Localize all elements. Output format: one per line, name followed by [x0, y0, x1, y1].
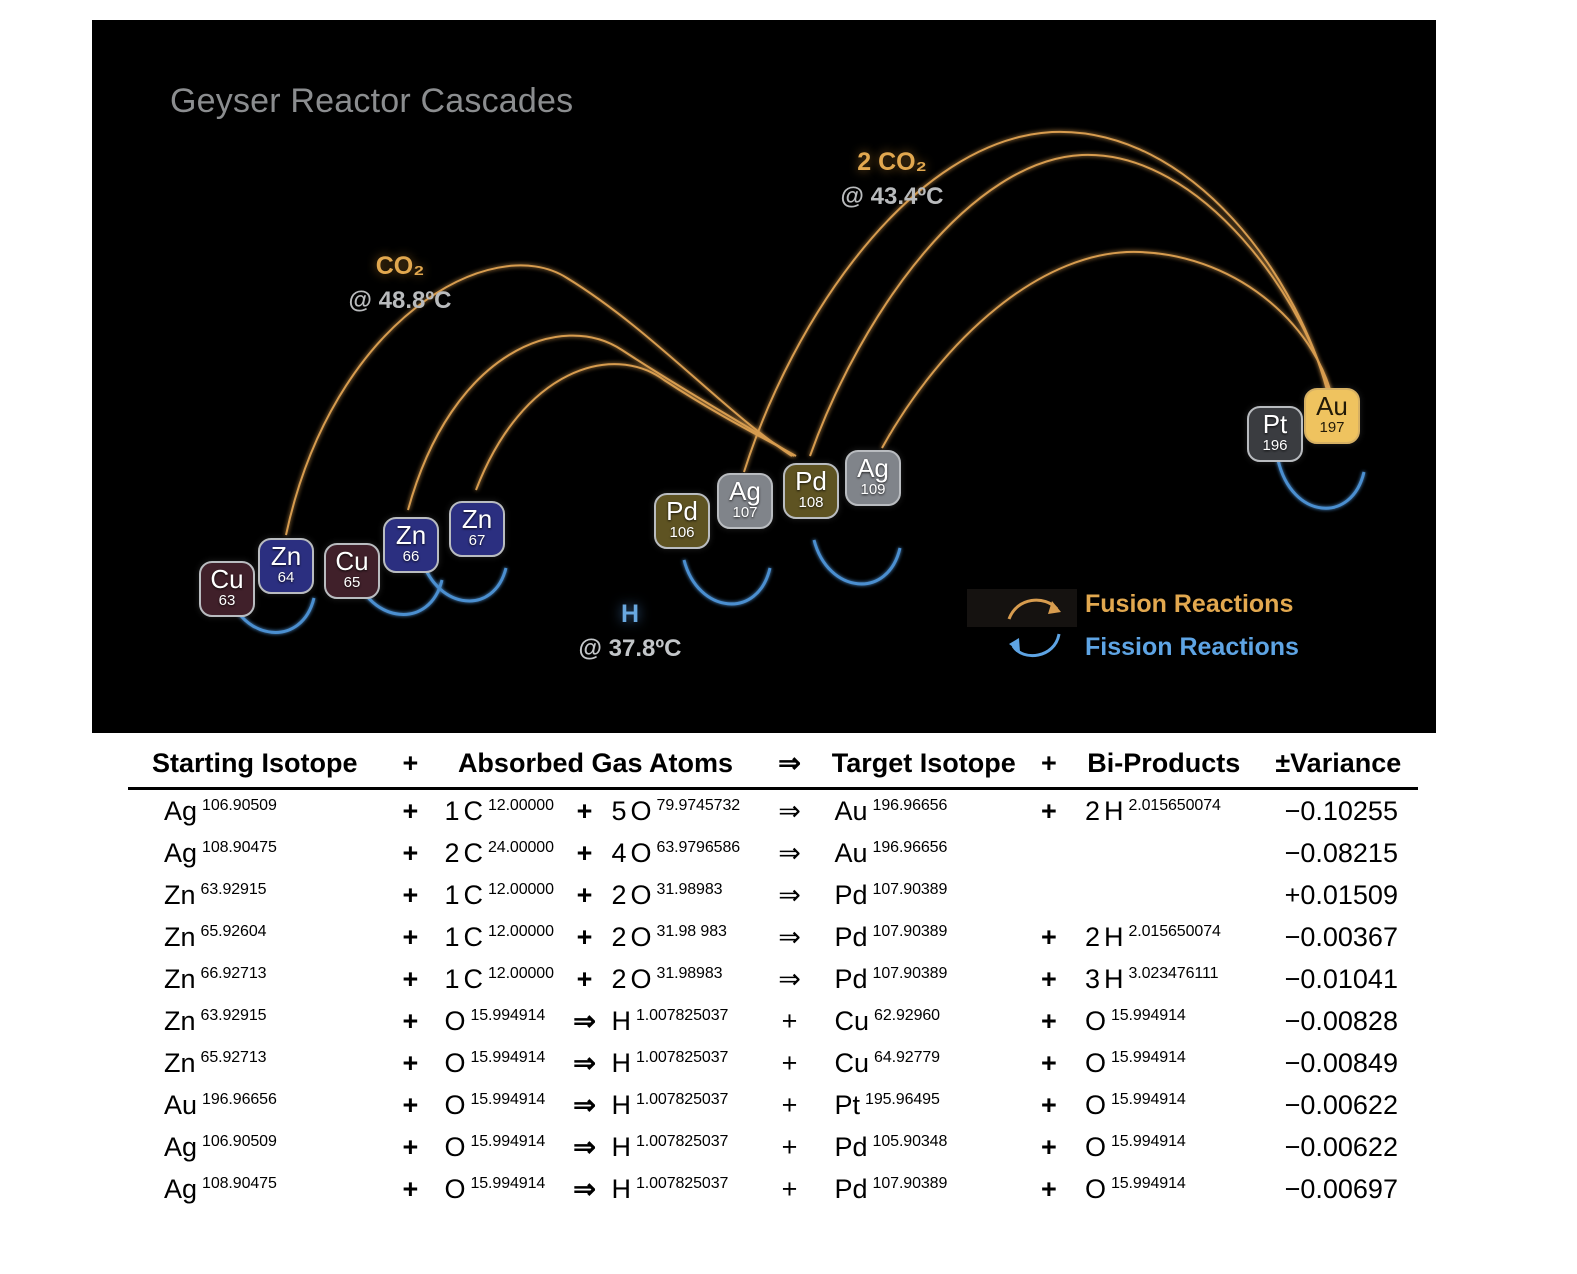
cell-reaction-arrow: ⇒ — [761, 916, 819, 958]
cell-starting-isotope: Zn66.92713 — [128, 958, 390, 1000]
target-isotope-mass: 107.90389 — [873, 1175, 948, 1192]
isotope-mass-number: 196 — [1262, 438, 1287, 453]
arc-up-arrow-icon — [1001, 585, 1071, 627]
cell-bi-product-1: O15.994914 — [1069, 1000, 1243, 1042]
isotope-chip-zn-67[interactable]: Zn 67 — [449, 501, 505, 557]
isotope-mass-number: 67 — [469, 533, 486, 548]
cell-bi-product-2 — [1243, 874, 1259, 916]
cell-operator-3 — [1029, 874, 1069, 916]
gas-name: CO₂ — [320, 252, 480, 281]
isotope-symbol: Pd — [666, 500, 698, 522]
starting-isotope-mass: 66.92713 — [201, 965, 267, 982]
starting-isotope-symbol: Zn — [164, 880, 196, 910]
gas-atom-1-symbol: O — [444, 1174, 465, 1204]
table-row[interactable]: Zn66.92713+1C12.00000+2O31.98983⇒Pd107.9… — [128, 958, 1418, 1000]
cell-gas-atom-1: 1C12.00000 — [430, 916, 571, 958]
cell-variance: +0.01509 — [1259, 874, 1418, 916]
isotope-chip-ag-109[interactable]: Ag 109 — [845, 450, 901, 506]
starting-isotope-mass: 106.90509 — [202, 1133, 277, 1150]
gas-atom-1-symbol: C — [463, 796, 483, 826]
gas-atom-2-coefficient: 5 — [611, 796, 626, 826]
cell-bi-product-2 — [1243, 1126, 1259, 1168]
gas-atom-1-symbol: C — [463, 922, 483, 952]
target-isotope-mass: 105.90348 — [873, 1133, 948, 1150]
cell-operator-1: + — [390, 832, 430, 874]
gas-atom-1-mass: 15.994914 — [470, 1091, 545, 1108]
cell-bi-product-1: O15.994914 — [1069, 1126, 1243, 1168]
target-isotope-symbol: Pd — [835, 964, 868, 994]
table-row[interactable]: Zn63.92915+O15.994914⇒H1.007825037+Cu62.… — [128, 1000, 1418, 1042]
isotope-chip-zn-64[interactable]: Zn 64 — [258, 538, 314, 594]
cell-operator-2: ⇒ — [572, 1042, 598, 1084]
gas-atom-1-mass: 12.00000 — [488, 797, 554, 814]
gas-atom-1-mass: 15.994914 — [470, 1175, 545, 1192]
cell-target-isotope: Pd107.90389 — [819, 916, 1029, 958]
target-isotope-mass: 107.90389 — [873, 965, 948, 982]
starting-isotope-symbol: Au — [164, 1090, 197, 1120]
legend-item-fusion[interactable]: Fusion Reactions — [967, 585, 1297, 627]
target-isotope-symbol: Pt — [835, 1090, 861, 1120]
bi-product-1-symbol: H — [1104, 922, 1124, 952]
isotope-mass-number: 65 — [344, 575, 361, 590]
gas-atom-2-symbol: O — [631, 880, 652, 910]
isotope-symbol: Pd — [795, 470, 827, 492]
target-isotope-symbol: Pd — [835, 1132, 868, 1162]
cell-variance: −0.10255 — [1259, 789, 1418, 833]
starting-isotope-symbol: Zn — [164, 922, 196, 952]
target-isotope-symbol: Cu — [835, 1048, 870, 1078]
gas-atom-2-symbol: O — [631, 922, 652, 952]
gas-atom-1-symbol: O — [444, 1132, 465, 1162]
cell-bi-product-1 — [1069, 874, 1243, 916]
cell-operator-1: + — [390, 1042, 430, 1084]
table-row[interactable]: Au196.96656+O15.994914⇒H1.007825037+Pt19… — [128, 1084, 1418, 1126]
gas-atom-2-mass: 1.007825037 — [636, 1133, 728, 1150]
isotope-symbol: Zn — [462, 508, 492, 530]
cell-operator-3: + — [1029, 916, 1069, 958]
cell-gas-atom-1: O15.994914 — [430, 1000, 571, 1042]
cell-variance: −0.00622 — [1259, 1084, 1418, 1126]
cell-reaction-arrow: ⇒ — [761, 958, 819, 1000]
target-isotope-mass: 195.96495 — [865, 1091, 940, 1108]
bi-product-1-mass: 2.015650074 — [1128, 797, 1220, 814]
cell-target-isotope: Au196.96656 — [819, 789, 1029, 833]
col-header-implies: ⇒ — [761, 744, 819, 789]
gas-atom-1-symbol: O — [444, 1090, 465, 1120]
cell-operator-1: + — [390, 874, 430, 916]
cell-starting-isotope: Zn63.92915 — [128, 1000, 390, 1042]
starting-isotope-symbol: Ag — [164, 1174, 197, 1204]
gas-atom-2-mass: 31.98983 — [657, 881, 723, 898]
cell-starting-isotope: Au196.96656 — [128, 1084, 390, 1126]
bi-product-1-symbol: O — [1085, 1048, 1106, 1078]
cell-gas-atom-2: H1.007825037 — [597, 1000, 760, 1042]
cell-operator-3: + — [1029, 789, 1069, 833]
fission-arc-ag107-to-pd106 — [684, 560, 770, 604]
cell-gas-atom-2: 5O79.9745732 — [597, 789, 760, 833]
gas-label-co2-1: CO₂ @ 48.8ºC — [320, 252, 480, 315]
cell-reaction-arrow: + — [761, 1084, 819, 1126]
starting-isotope-mass: 63.92915 — [201, 881, 267, 898]
target-isotope-mass: 196.96656 — [873, 797, 948, 814]
cell-operator-2: + — [572, 916, 598, 958]
table-row[interactable]: Ag106.90509+O15.994914⇒H1.007825037+Pd10… — [128, 1126, 1418, 1168]
starting-isotope-mass: 63.92915 — [201, 1007, 267, 1024]
cell-operator-1: + — [390, 1084, 430, 1126]
cell-gas-atom-2: H1.007825037 — [597, 1042, 760, 1084]
reaction-table: Starting Isotope + Absorbed Gas Atoms ⇒ … — [128, 744, 1418, 1210]
cell-operator-3: + — [1029, 958, 1069, 1000]
target-isotope-mass: 64.92779 — [874, 1049, 940, 1066]
gas-atom-2-coefficient: 2 — [611, 922, 626, 952]
cell-target-isotope: Pd105.90348 — [819, 1126, 1029, 1168]
cell-operator-3: + — [1029, 1042, 1069, 1084]
cell-operator-1: + — [390, 958, 430, 1000]
gas-atom-1-mass: 15.994914 — [470, 1007, 545, 1024]
table-row[interactable]: Ag106.90509+1C12.00000+5O79.9745732⇒Au19… — [128, 789, 1418, 833]
col-header-bi-products: Bi-Products — [1069, 744, 1259, 789]
col-header-target-isotope: Target Isotope — [819, 744, 1029, 789]
cell-starting-isotope: Ag108.90475 — [128, 832, 390, 874]
col-header-variance: ±Variance — [1259, 744, 1418, 789]
cell-gas-atom-1: O15.994914 — [430, 1084, 571, 1126]
legend-label: Fusion Reactions — [1085, 590, 1293, 619]
target-isotope-mass: 107.90389 — [873, 881, 948, 898]
isotope-symbol: Cu — [335, 550, 368, 572]
gas-atom-2-symbol: O — [631, 838, 652, 868]
gas-atom-2-mass: 63.9796586 — [657, 839, 741, 856]
table-row[interactable]: Ag108.90475+O15.994914⇒H1.007825037+Pd10… — [128, 1168, 1418, 1210]
cell-target-isotope: Cu64.92779 — [819, 1042, 1029, 1084]
gas-atom-1-mass: 12.00000 — [488, 881, 554, 898]
gas-atom-2-symbol: H — [611, 1006, 631, 1036]
bi-product-1-mass: 15.994914 — [1111, 1133, 1186, 1150]
cell-gas-atom-1: O15.994914 — [430, 1168, 571, 1210]
cell-operator-2: ⇒ — [572, 1168, 598, 1210]
legend-item-fission[interactable]: Fission Reactions — [967, 628, 1297, 670]
isotope-chip-pd-108[interactable]: Pd 108 — [783, 463, 839, 519]
isotope-symbol: Zn — [271, 545, 301, 567]
cell-starting-isotope: Zn63.92915 — [128, 874, 390, 916]
isotope-chip-pt-196[interactable]: Pt 196 — [1247, 406, 1303, 462]
bi-product-1-symbol: O — [1085, 1132, 1106, 1162]
bi-product-1-symbol: O — [1085, 1090, 1106, 1120]
bi-product-1-coefficient: 2 — [1085, 922, 1100, 952]
cell-operator-2: + — [572, 958, 598, 1000]
cell-target-isotope: Cu62.92960 — [819, 1000, 1029, 1042]
cell-reaction-arrow: ⇒ — [761, 789, 819, 833]
cell-operator-3: + — [1029, 1084, 1069, 1126]
isotope-symbol: Cu — [210, 568, 243, 590]
gas-atom-1-mass: 12.00000 — [488, 965, 554, 982]
gas-temperature: @ 48.8ºC — [320, 287, 480, 315]
cell-bi-product-1: 3H3.023476111 — [1069, 958, 1243, 1000]
table-header-row: Starting Isotope + Absorbed Gas Atoms ⇒ … — [128, 744, 1418, 789]
cell-starting-isotope: Ag106.90509 — [128, 1126, 390, 1168]
isotope-chip-cu-63[interactable]: Cu 63 — [199, 561, 255, 617]
cell-gas-atom-1: 2C24.00000 — [430, 832, 571, 874]
cell-bi-product-1: O15.994914 — [1069, 1168, 1243, 1210]
starting-isotope-symbol: Ag — [164, 796, 197, 826]
gas-atom-1-symbol: O — [444, 1006, 465, 1036]
cell-gas-atom-2: 2O31.98983 — [597, 874, 760, 916]
bi-product-1-coefficient: 3 — [1085, 964, 1100, 994]
cell-operator-3: + — [1029, 1126, 1069, 1168]
cell-reaction-arrow: + — [761, 1042, 819, 1084]
gas-atom-2-coefficient: 2 — [611, 880, 626, 910]
target-isotope-symbol: Cu — [835, 1006, 870, 1036]
cell-bi-product-2 — [1243, 1168, 1259, 1210]
gas-atom-2-mass: 79.9745732 — [657, 797, 741, 814]
target-isotope-symbol: Pd — [835, 1174, 868, 1204]
cell-operator-2: + — [572, 832, 598, 874]
target-isotope-symbol: Pd — [835, 880, 868, 910]
page-root: Geyser Reactor Cascades CO₂ @ 48.8ºC 2 C… — [0, 0, 1577, 1274]
cell-variance: −0.01041 — [1259, 958, 1418, 1000]
gas-atom-1-coefficient: 1 — [444, 922, 459, 952]
bi-product-1-symbol: O — [1085, 1006, 1106, 1036]
cell-operator-3 — [1029, 832, 1069, 874]
cell-bi-product-1 — [1069, 832, 1243, 874]
gas-label-co2-2: 2 CO₂ @ 43.4ºC — [802, 148, 982, 211]
bi-product-1-symbol: H — [1104, 964, 1124, 994]
arc-down-arrow-icon — [1001, 628, 1071, 670]
gas-name: H — [520, 600, 740, 629]
gas-name: 2 CO₂ — [802, 148, 982, 177]
gas-atom-1-coefficient: 2 — [444, 838, 459, 868]
table-row[interactable]: Ag108.90475+2C24.00000+4O63.9796586⇒Au19… — [128, 832, 1418, 874]
cell-variance: −0.08215 — [1259, 832, 1418, 874]
cell-gas-atom-2: 2O31.98 983 — [597, 916, 760, 958]
gas-atom-2-mass: 31.98 983 — [657, 923, 727, 940]
col-header-plus-1: + — [390, 744, 430, 789]
cell-bi-product-1: O15.994914 — [1069, 1042, 1243, 1084]
col-header-absorbed-gas-atoms: Absorbed Gas Atoms — [430, 744, 760, 789]
target-isotope-mass: 196.96656 — [873, 839, 948, 856]
cell-variance: −0.00828 — [1259, 1000, 1418, 1042]
gas-atom-2-symbol: O — [631, 964, 652, 994]
isotope-chip-cu-65[interactable]: Cu 65 — [324, 543, 380, 599]
cell-operator-2: + — [572, 789, 598, 833]
starting-isotope-symbol: Ag — [164, 838, 197, 868]
cell-bi-product-1: O15.994914 — [1069, 1084, 1243, 1126]
bi-product-1-coefficient: 2 — [1085, 796, 1100, 826]
target-isotope-symbol: Pd — [835, 922, 868, 952]
isotope-mass-number: 107 — [732, 505, 757, 520]
starting-isotope-mass: 65.92604 — [201, 923, 267, 940]
gas-temperature: @ 37.8ºC — [520, 635, 740, 663]
cell-operator-1: + — [390, 1000, 430, 1042]
cell-reaction-arrow: ⇒ — [761, 874, 819, 916]
cell-operator-2: ⇒ — [572, 1000, 598, 1042]
starting-isotope-symbol: Zn — [164, 1048, 196, 1078]
starting-isotope-mass: 106.90509 — [202, 797, 277, 814]
gas-atom-1-coefficient: 1 — [444, 880, 459, 910]
isotope-mass-number: 108 — [798, 495, 823, 510]
isotope-mass-number: 106 — [669, 525, 694, 540]
isotope-chip-pd-106[interactable]: Pd 106 — [654, 493, 710, 549]
isotope-mass-number: 197 — [1319, 420, 1344, 435]
gas-atom-1-mass: 15.994914 — [470, 1133, 545, 1150]
cell-gas-atom-2: H1.007825037 — [597, 1084, 760, 1126]
isotope-mass-number: 64 — [278, 570, 295, 585]
gas-atom-2-symbol: O — [631, 796, 652, 826]
starting-isotope-symbol: Zn — [164, 964, 196, 994]
gas-atom-1-symbol: O — [444, 1048, 465, 1078]
target-isotope-symbol: Au — [835, 796, 868, 826]
isotope-mass-number: 109 — [860, 482, 885, 497]
table-row[interactable]: Zn65.92604+1C12.00000+2O31.98 983⇒Pd107.… — [128, 916, 1418, 958]
bi-product-1-mass: 3.023476111 — [1128, 965, 1218, 982]
gas-atom-2-symbol: H — [611, 1132, 631, 1162]
isotope-mass-number: 66 — [403, 549, 420, 564]
target-isotope-mass: 107.90389 — [873, 923, 948, 940]
cascade-diagram: Geyser Reactor Cascades CO₂ @ 48.8ºC 2 C… — [92, 20, 1436, 733]
cell-operator-2: ⇒ — [572, 1084, 598, 1126]
fission-arc-ag109-to-pd108 — [814, 540, 900, 584]
cell-target-isotope: Pt195.96495 — [819, 1084, 1029, 1126]
bi-product-1-mass: 2.015650074 — [1128, 923, 1220, 940]
gas-atom-1-mass: 24.00000 — [488, 839, 554, 856]
page-title: Geyser Reactor Cascades — [170, 82, 573, 121]
gas-atom-1-coefficient: 1 — [444, 796, 459, 826]
gas-atom-1-coefficient: 1 — [444, 964, 459, 994]
isotope-symbol: Zn — [396, 524, 426, 546]
gas-atom-2-mass: 1.007825037 — [636, 1175, 728, 1192]
cell-reaction-arrow: + — [761, 1126, 819, 1168]
gas-atom-2-mass: 31.98983 — [657, 965, 723, 982]
cell-reaction-arrow: ⇒ — [761, 832, 819, 874]
cell-operator-1: + — [390, 1168, 430, 1210]
isotope-symbol: Au — [1316, 395, 1348, 417]
cell-bi-product-2 — [1243, 1042, 1259, 1084]
cell-gas-atom-1: O15.994914 — [430, 1042, 571, 1084]
cell-gas-atom-2: 4O63.9796586 — [597, 832, 760, 874]
cell-operator-1: + — [390, 916, 430, 958]
gas-atom-2-coefficient: 4 — [611, 838, 626, 868]
bi-product-1-symbol: H — [1104, 796, 1124, 826]
cell-target-isotope: Pd107.90389 — [819, 874, 1029, 916]
gas-label-h: H @ 37.8ºC — [520, 600, 740, 663]
cell-target-isotope: Pd107.90389 — [819, 958, 1029, 1000]
cell-bi-product-2 — [1243, 1084, 1259, 1126]
cell-bi-product-1: 2H2.015650074 — [1069, 789, 1243, 833]
bi-product-1-mass: 15.994914 — [1111, 1091, 1186, 1108]
gas-atom-2-mass: 1.007825037 — [636, 1049, 728, 1066]
gas-atom-1-symbol: C — [463, 838, 483, 868]
cell-bi-product-2 — [1243, 832, 1259, 874]
isotope-symbol: Ag — [857, 457, 889, 479]
bi-product-1-mass: 15.994914 — [1111, 1049, 1186, 1066]
cell-reaction-arrow: + — [761, 1000, 819, 1042]
cell-reaction-arrow: + — [761, 1168, 819, 1210]
table-body: Ag106.90509+1C12.00000+5O79.9745732⇒Au19… — [128, 789, 1418, 1211]
cell-gas-atom-2: H1.007825037 — [597, 1168, 760, 1210]
isotope-chip-zn-66[interactable]: Zn 66 — [383, 517, 439, 573]
cell-variance: −0.00697 — [1259, 1168, 1418, 1210]
cell-operator-2: + — [572, 874, 598, 916]
cell-starting-isotope: Ag108.90475 — [128, 1168, 390, 1210]
table-head: Starting Isotope + Absorbed Gas Atoms ⇒ … — [128, 744, 1418, 789]
starting-isotope-symbol: Ag — [164, 1132, 197, 1162]
gas-atom-2-symbol: H — [611, 1090, 631, 1120]
cell-gas-atom-1: 1C12.00000 — [430, 874, 571, 916]
gas-atom-2-coefficient: 2 — [611, 964, 626, 994]
gas-atom-1-mass: 12.00000 — [488, 923, 554, 940]
bi-product-1-symbol: O — [1085, 1174, 1106, 1204]
cell-bi-product-1: 2H2.015650074 — [1069, 916, 1243, 958]
cell-bi-product-2 — [1243, 958, 1259, 1000]
legend-label: Fission Reactions — [1085, 633, 1299, 662]
col-header-starting-isotope: Starting Isotope — [128, 744, 390, 789]
table-row[interactable]: Zn63.92915+1C12.00000+2O31.98983⇒Pd107.9… — [128, 874, 1418, 916]
bi-product-1-mass: 15.994914 — [1111, 1175, 1186, 1192]
gas-atom-1-symbol: C — [463, 964, 483, 994]
cell-operator-3: + — [1029, 1000, 1069, 1042]
gas-atom-1-symbol: C — [463, 880, 483, 910]
bi-product-1-mass: 15.994914 — [1111, 1007, 1186, 1024]
cell-bi-product-2 — [1243, 916, 1259, 958]
isotope-mass-number: 63 — [219, 593, 236, 608]
target-isotope-mass: 62.92960 — [874, 1007, 940, 1024]
cell-bi-product-2 — [1243, 789, 1259, 833]
gas-atom-2-mass: 1.007825037 — [636, 1091, 728, 1108]
cell-gas-atom-1: 1C12.00000 — [430, 789, 571, 833]
cell-gas-atom-1: 1C12.00000 — [430, 958, 571, 1000]
cell-variance: −0.00849 — [1259, 1042, 1418, 1084]
gas-atom-2-symbol: H — [611, 1048, 631, 1078]
starting-isotope-mass: 108.90475 — [202, 839, 277, 856]
isotope-symbol: Ag — [729, 480, 761, 502]
cell-gas-atom-2: 2O31.98983 — [597, 958, 760, 1000]
gas-temperature: @ 43.4ºC — [802, 183, 982, 211]
cell-starting-isotope: Ag106.90509 — [128, 789, 390, 833]
cell-variance: −0.00622 — [1259, 1126, 1418, 1168]
fission-arc-au197-to-pt196 — [1278, 460, 1364, 508]
cell-operator-1: + — [390, 789, 430, 833]
table-row[interactable]: Zn65.92713+O15.994914⇒H1.007825037+Cu64.… — [128, 1042, 1418, 1084]
cell-starting-isotope: Zn65.92604 — [128, 916, 390, 958]
cell-operator-2: ⇒ — [572, 1126, 598, 1168]
isotope-chip-au-197[interactable]: Au 197 — [1304, 388, 1360, 444]
target-isotope-symbol: Au — [835, 838, 868, 868]
col-header-plus-2: + — [1029, 744, 1069, 789]
gas-atom-1-mass: 15.994914 — [470, 1049, 545, 1066]
cell-target-isotope: Au196.96656 — [819, 832, 1029, 874]
isotope-symbol: Pt — [1263, 413, 1288, 435]
starting-isotope-mass: 196.96656 — [202, 1091, 277, 1108]
cell-gas-atom-2: H1.007825037 — [597, 1126, 760, 1168]
legend: Fusion Reactions Fission Reactions — [967, 585, 1297, 685]
cell-operator-1: + — [390, 1126, 430, 1168]
isotope-chip-ag-107[interactable]: Ag 107 — [717, 473, 773, 529]
cell-variance: −0.00367 — [1259, 916, 1418, 958]
starting-isotope-mass: 108.90475 — [202, 1175, 277, 1192]
starting-isotope-mass: 65.92713 — [201, 1049, 267, 1066]
gas-atom-2-symbol: H — [611, 1174, 631, 1204]
reaction-table-container: Starting Isotope + Absorbed Gas Atoms ⇒ … — [0, 744, 1577, 1274]
cell-starting-isotope: Zn65.92713 — [128, 1042, 390, 1084]
gas-atom-2-mass: 1.007825037 — [636, 1007, 728, 1024]
cell-bi-product-2 — [1243, 1000, 1259, 1042]
cell-target-isotope: Pd107.90389 — [819, 1168, 1029, 1210]
cell-operator-3: + — [1029, 1168, 1069, 1210]
starting-isotope-symbol: Zn — [164, 1006, 196, 1036]
cell-gas-atom-1: O15.994914 — [430, 1126, 571, 1168]
